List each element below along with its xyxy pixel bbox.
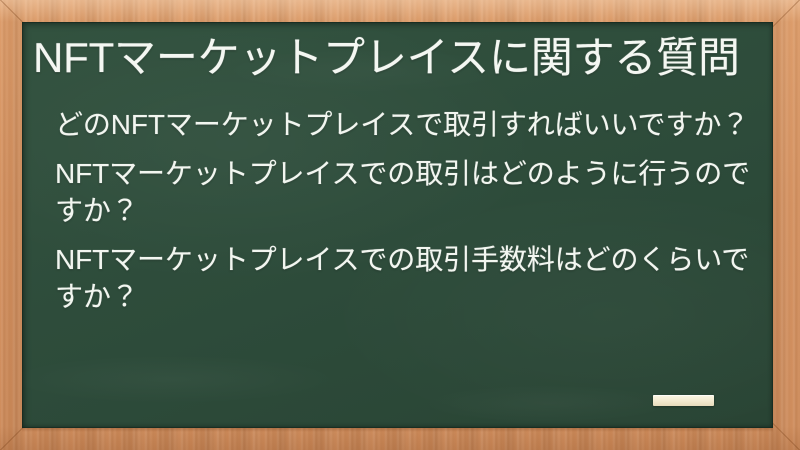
frame-miter-bottom-right xyxy=(771,422,800,450)
question-item: NFTマーケットプレイスでの取引手数料はどのくらいですか？ xyxy=(55,241,755,315)
wooden-frame: NFTマーケットプレイスに関する質問 どのNFTマーケットプレイスで取引すればい… xyxy=(0,0,800,450)
frame-bottom-shadow xyxy=(0,426,800,450)
chalk-stick xyxy=(653,395,714,406)
frame-top-highlight xyxy=(0,0,800,22)
frame-miter-top-right xyxy=(771,0,800,28)
chalkboard: NFTマーケットプレイスに関する質問 どのNFTマーケットプレイスで取引すればい… xyxy=(22,22,773,428)
question-item: どのNFTマーケットプレイスで取引すればいいですか？ xyxy=(55,106,755,143)
question-list: どのNFTマーケットプレイスで取引すればいいですか？ NFTマーケットプレイスで… xyxy=(55,106,755,315)
chalk-ledge xyxy=(22,428,773,432)
question-item: NFTマーケットプレイスでの取引はどのように行うのですか？ xyxy=(55,155,755,229)
slide-title: NFTマーケットプレイスに関する質問 xyxy=(33,27,753,89)
